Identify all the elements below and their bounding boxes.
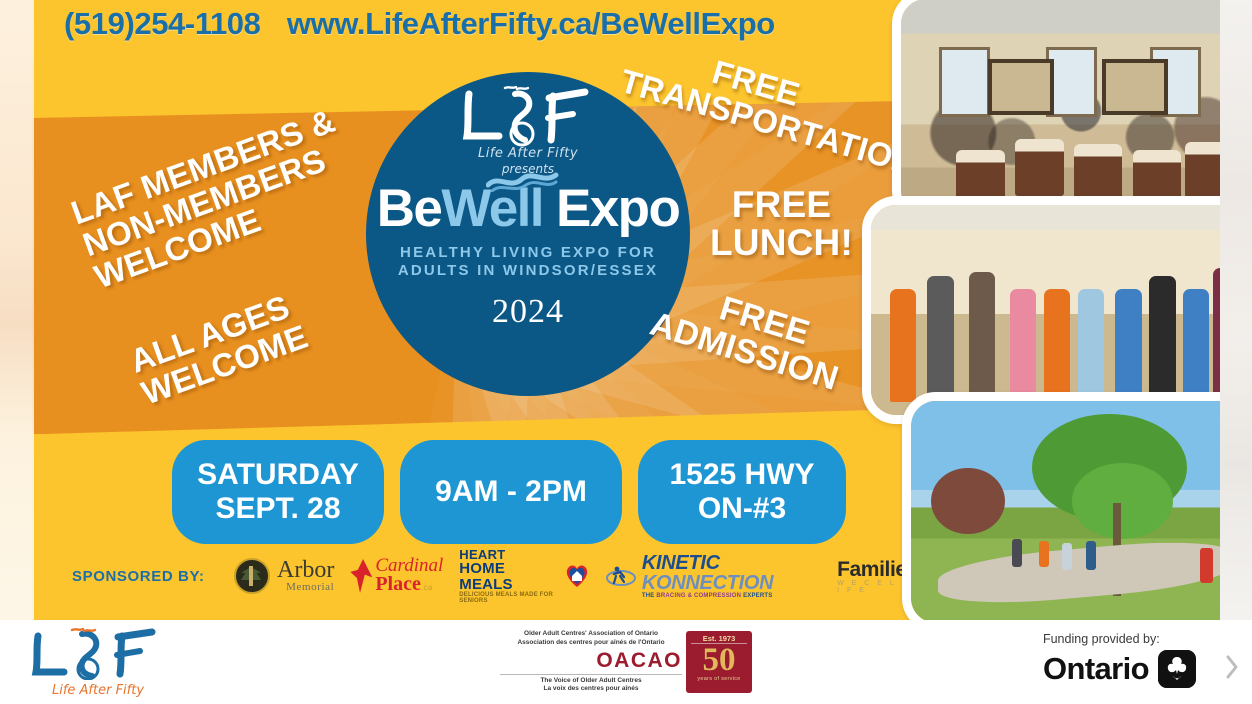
trillium-icon xyxy=(1158,650,1196,688)
expo-tagline: HEALTHY LIVING EXPO FOR ADULTS IN WINDSO… xyxy=(366,244,690,281)
arbor-tree-icon xyxy=(234,558,270,594)
kk-line-1b: KONNECTION xyxy=(642,572,773,594)
title-part-expo: Expo xyxy=(556,179,679,238)
tagline-line-2: ADULTS IN WINDSOR/ESSEX xyxy=(366,262,690,280)
time-line-1: 9AM - 2PM xyxy=(435,475,587,509)
event-year: 2024 xyxy=(366,293,690,331)
outdoor-walk-image xyxy=(911,401,1220,620)
sponsor-heart-to-home-meals[interactable]: HEART HOME MEALS DELICIOUS MEALS MADE FO… xyxy=(459,548,590,605)
oacao-sub-fr: La voix des centres pour aînés xyxy=(500,685,682,693)
dance-class-image xyxy=(871,205,1220,415)
photo-dance-class xyxy=(862,196,1220,424)
heart-house-icon xyxy=(564,564,590,588)
cardinal-bird-icon xyxy=(350,559,372,593)
address-line-1: 1525 HWY xyxy=(669,458,814,492)
photo-outdoor-walk xyxy=(902,392,1220,620)
title-part-be: Be xyxy=(377,179,442,238)
ontario-wordmark: Ontario xyxy=(1043,651,1149,687)
carousel-previous-slide-peek[interactable] xyxy=(0,0,34,620)
oacao-line-en: Older Adult Centres' Association of Onta… xyxy=(500,630,682,638)
oacao-line-fr: Association des centres pour aînés de l'… xyxy=(500,639,682,647)
badge-sub-label: years of service xyxy=(686,676,752,682)
drum-circle-image xyxy=(901,0,1220,215)
photo-drum-circle xyxy=(892,0,1220,224)
sponsored-by-label: SPONSORED BY: xyxy=(72,568,218,585)
badge-number: 50 xyxy=(686,645,752,676)
carousel-next-arrow-icon[interactable] xyxy=(1224,654,1240,680)
main-logo-disc: Life After Fifty presents BeWell Expo HE… xyxy=(366,72,690,396)
callout-free-lunch: FREE LUNCH! xyxy=(710,186,853,262)
kk-line-1a: KINETIC xyxy=(642,552,720,574)
oacao-sub-en: The Voice of Older Adult Centres xyxy=(500,677,682,685)
h2h-line-2: HOME MEALS xyxy=(459,561,562,593)
kk-line-2a: THE xyxy=(642,593,656,599)
footer-oacao-logo[interactable]: Older Adult Centres' Association of Onta… xyxy=(500,630,760,694)
wave-icon xyxy=(486,170,560,192)
carousel-slide-stage: (519)254-1108 www.LifeAfterFifty.ca/BeWe… xyxy=(0,0,1252,704)
pill-address[interactable]: 1525 HWY ON-#3 xyxy=(638,440,846,544)
photo-collage xyxy=(854,0,1220,620)
sponsor-kinetic-konnection[interactable]: KINETIC KONNECTION THE BRACING & COMPRES… xyxy=(606,553,821,599)
laf-footer-icon xyxy=(18,628,178,680)
sponsor-arbor-memorial[interactable]: Arbor Memorial xyxy=(234,558,334,594)
lunch-line-2: LUNCH! xyxy=(710,224,853,262)
laf-logo-icon xyxy=(453,86,603,150)
date-line-1: SATURDAY xyxy=(197,458,359,492)
oacao-50-years-badge: Est. 1973 50 years of service xyxy=(686,631,752,693)
address-line-2: ON-#3 xyxy=(669,492,814,526)
date-line-2: SEPT. 28 xyxy=(197,492,359,526)
event-detail-pills: SATURDAY SEPT. 28 9AM - 2PM 1525 HWY ON-… xyxy=(172,440,872,544)
h2h-line-3: DELICIOUS MEALS MADE FOR SENIORS xyxy=(459,592,562,604)
bewell-expo-poster[interactable]: (519)254-1108 www.LifeAfterFifty.ca/BeWe… xyxy=(32,0,1220,620)
lunch-line-1: FREE xyxy=(710,186,853,224)
footer-ontario-funding[interactable]: Funding provided by: Ontario xyxy=(1043,632,1196,688)
kinetic-runner-icon xyxy=(606,564,636,588)
cardinal-line-2: Place xyxy=(375,573,421,595)
phone-number[interactable]: (519)254-1108 xyxy=(64,6,260,41)
pill-date[interactable]: SATURDAY SEPT. 28 xyxy=(172,440,384,544)
arbor-line-1: Arbor xyxy=(277,559,334,582)
footer-laf-script: Life After Fifty xyxy=(18,683,178,698)
cardinal-line-3: .ca xyxy=(421,583,433,592)
page-footer: Life After Fifty Older Adult Centres' As… xyxy=(0,620,1252,704)
funding-label: Funding provided by: xyxy=(1043,632,1196,646)
tagline-line-1: HEALTHY LIVING EXPO FOR xyxy=(366,244,690,262)
expo-title-block: BeWell Expo xyxy=(366,182,690,235)
carousel-next-slide-peek[interactable] xyxy=(1220,0,1252,620)
arbor-line-2: Memorial xyxy=(277,581,334,593)
footer-laf-logo[interactable]: Life After Fifty xyxy=(18,628,178,694)
kk-line-2b: BRACING & COMPRESSION xyxy=(656,593,743,599)
pill-time[interactable]: 9AM - 2PM xyxy=(400,440,622,544)
header-contact-line: (519)254-1108 www.LifeAfterFifty.ca/BeWe… xyxy=(32,6,964,42)
kk-line-2c: EXPERTS xyxy=(743,593,772,599)
sponsor-cardinal-place[interactable]: Cardinal Place.ca xyxy=(350,557,443,595)
h2h-line-1a: HEART xyxy=(459,548,562,561)
oacao-acronym: OACAO xyxy=(500,649,682,675)
website-url[interactable]: www.LifeAfterFifty.ca/BeWellExpo xyxy=(287,6,775,41)
